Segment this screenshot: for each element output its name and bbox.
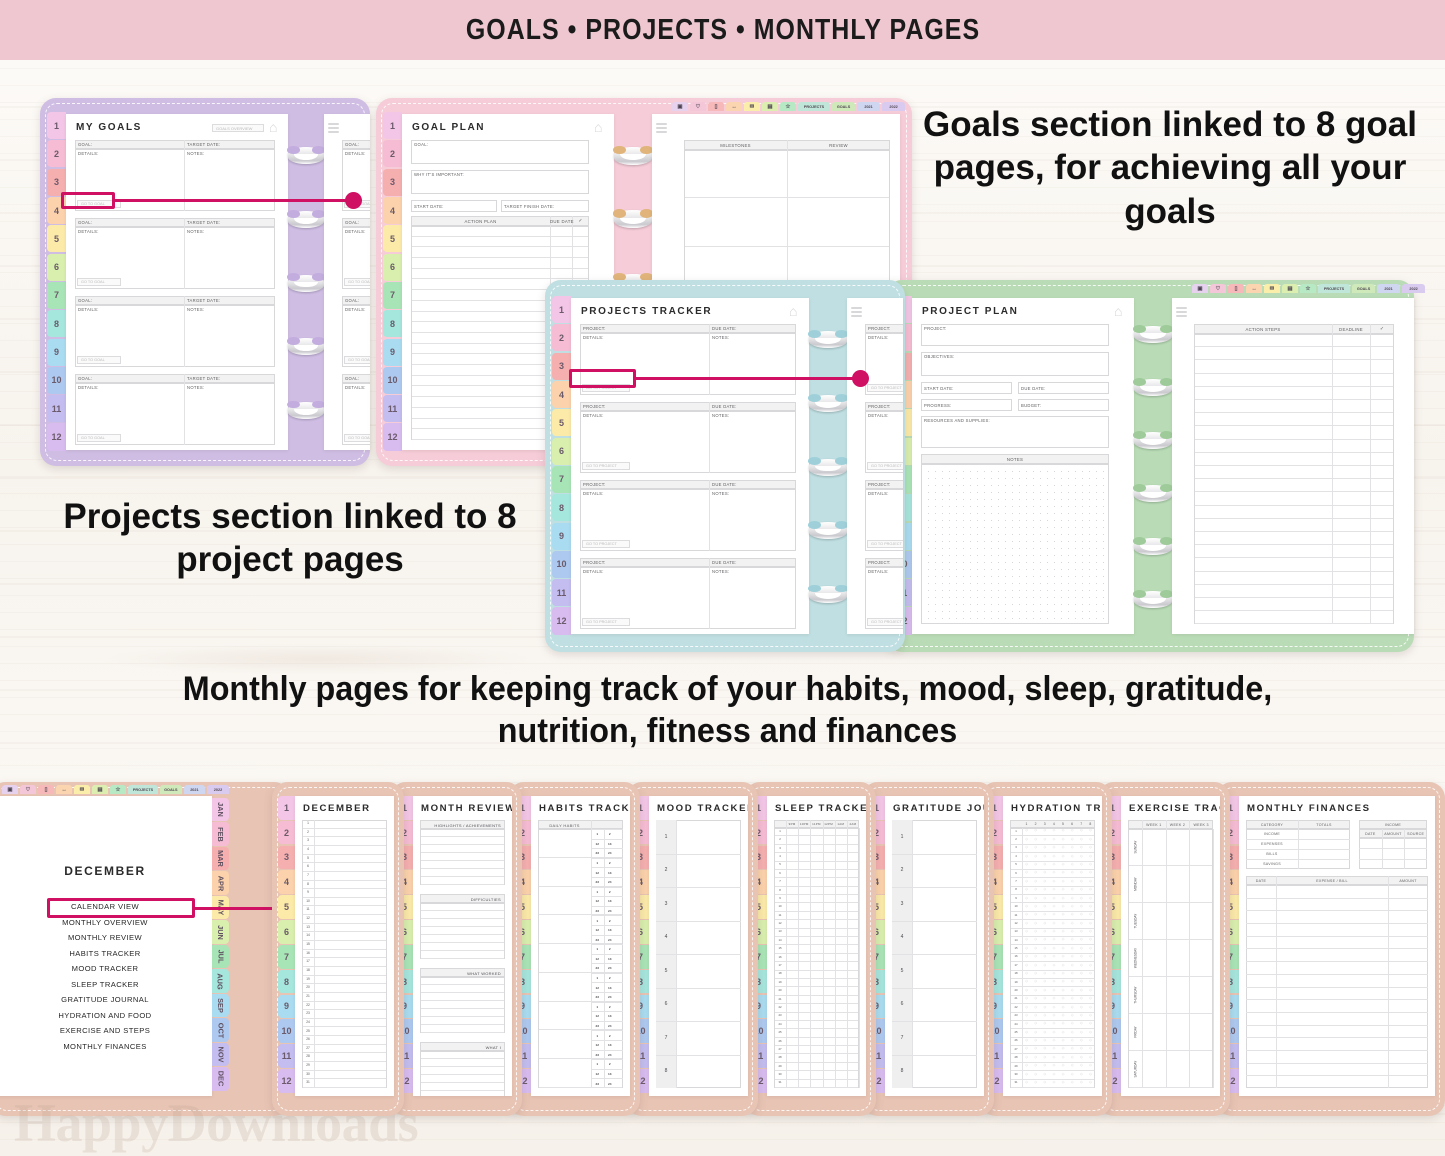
go-to-goal-button[interactable]: GO TO GOAL [77,434,121,442]
water-glass-icon[interactable]: ◇ [1031,862,1040,866]
highlight-go-to-goal[interactable] [61,192,115,209]
water-glass-icon[interactable]: ◇ [1022,971,1031,975]
sleep-day-row[interactable] [775,895,858,903]
water-glass-icon[interactable]: ◇ [1040,1080,1049,1084]
overview-day-row[interactable] [303,889,386,898]
water-glass-icon[interactable]: ◇ [1049,912,1058,916]
water-glass-icon[interactable]: ◇ [1077,921,1086,925]
go-to-goal-button[interactable]: GO TO GOAL [77,278,121,286]
index-item-exercise-and-steps[interactable]: EXERCISE AND STEPS [0,1026,212,1035]
water-glass-icon[interactable]: ◇ [1040,879,1049,883]
water-glass-icon[interactable]: ◇ [1086,828,1095,832]
top-tab-projects[interactable]: PROJECTS [798,102,830,111]
number-tab-7[interactable]: 7 [552,466,571,493]
water-glass-icon[interactable]: ◇ [1049,1063,1058,1067]
water-glass-icon[interactable]: ◇ [1086,971,1095,975]
water-glass-icon[interactable]: ◇ [1086,879,1095,883]
overview-day-row[interactable] [303,1036,386,1045]
water-glass-icon[interactable]: ◇ [1077,904,1086,908]
number-tab-7[interactable]: 7 [383,282,402,309]
water-glass-icon[interactable]: ◇ [1022,1046,1031,1050]
water-glass-icon[interactable]: ◇ [1022,946,1031,950]
expense-row[interactable] [1246,1063,1428,1064]
water-glass-icon[interactable]: ◇ [1031,996,1040,1000]
heart-icon[interactable]: ♡ [690,102,706,111]
water-glass-icon[interactable]: ◇ [1086,979,1095,983]
index-item-sleep-tracker[interactable]: SLEEP TRACKER [0,980,212,989]
water-glass-icon[interactable]: ◇ [1031,921,1040,925]
water-glass-icon[interactable]: ◇ [1031,946,1040,950]
month-tab-AUG[interactable]: AUG [212,969,229,992]
sleep-day-row[interactable] [775,836,858,844]
water-glass-icon[interactable]: ◇ [1022,1063,1031,1067]
water-glass-icon[interactable]: ◇ [1049,887,1058,891]
water-glass-icon[interactable]: ◇ [1068,904,1077,908]
water-glass-icon[interactable]: ◇ [1040,870,1049,874]
overview-day-row[interactable] [303,837,386,846]
expense-row[interactable] [1246,1075,1428,1076]
water-glass-icon[interactable]: ◇ [1068,828,1077,832]
water-glass-icon[interactable]: ◇ [1077,937,1086,941]
water-glass-icon[interactable]: ◇ [1059,1038,1068,1042]
water-glass-icon[interactable]: ◇ [1040,963,1049,967]
water-glass-icon[interactable]: ◇ [1059,1030,1068,1034]
water-glass-icon[interactable]: ◇ [1031,887,1040,891]
income-row[interactable] [1359,859,1427,860]
water-glass-icon[interactable]: ◇ [1077,870,1086,874]
sleep-day-row[interactable] [775,845,858,853]
number-tab-2[interactable]: 2 [383,140,402,167]
water-glass-icon[interactable]: ◇ [1031,879,1040,883]
checkbox-icon[interactable]: ▣ [672,102,688,111]
water-glass-icon[interactable]: ◇ [1077,862,1086,866]
water-glass-icon[interactable]: ◇ [1022,921,1031,925]
water-glass-icon[interactable]: ◇ [1077,896,1086,900]
water-glass-icon[interactable]: ◇ [1040,1055,1049,1059]
water-glass-icon[interactable]: ◇ [1077,1072,1086,1076]
number-tab-8[interactable]: 8 [278,970,295,994]
summary-row[interactable] [1246,849,1350,850]
index-item-gratitude-journal[interactable]: GRATITUDE JOURNAL [0,995,212,1004]
water-glass-icon[interactable]: ◇ [1049,870,1058,874]
water-glass-icon[interactable]: ◇ [1040,988,1049,992]
water-glass-icon[interactable]: ◇ [1022,912,1031,916]
water-glass-icon[interactable]: ◇ [1059,963,1068,967]
water-glass-icon[interactable]: ◇ [1077,1005,1086,1009]
sleep-day-row[interactable] [775,962,858,970]
water-glass-icon[interactable]: ◇ [1049,946,1058,950]
expense-row[interactable] [1246,961,1428,962]
water-glass-icon[interactable]: ◇ [1059,921,1068,925]
sleep-day-row[interactable] [775,1004,858,1012]
go-to-project-button[interactable]: GO TO PROJECT [582,462,630,470]
water-glass-icon[interactable]: ◇ [1040,837,1049,841]
sleep-day-row[interactable] [775,1038,858,1046]
water-glass-icon[interactable]: ◇ [1031,988,1040,992]
mood-row[interactable] [656,854,741,855]
star-icon[interactable]: ☆ [1300,284,1316,293]
water-glass-icon[interactable]: ◇ [1086,862,1095,866]
water-glass-icon[interactable]: ◇ [1040,1021,1049,1025]
water-glass-icon[interactable]: ◇ [1040,971,1049,975]
water-glass-icon[interactable]: ◇ [1022,862,1031,866]
month-tab-MAR[interactable]: MAR [212,847,229,870]
water-glass-icon[interactable]: ◇ [1068,1063,1077,1067]
water-glass-icon[interactable]: ◇ [1040,845,1049,849]
water-glass-icon[interactable]: ◇ [1077,1080,1086,1084]
water-glass-icon[interactable]: ◇ [1031,1005,1040,1009]
water-glass-icon[interactable]: ◇ [1068,887,1077,891]
water-glass-icon[interactable]: ◇ [1022,1005,1031,1009]
water-glass-icon[interactable]: ◇ [1049,971,1058,975]
water-glass-icon[interactable]: ◇ [1086,921,1095,925]
number-tab-9[interactable]: 9 [278,995,295,1019]
mood-row[interactable] [656,921,741,922]
number-tab-11[interactable]: 11 [278,1044,295,1068]
water-glass-icon[interactable]: ◇ [1086,954,1095,958]
water-glass-icon[interactable]: ◇ [1086,946,1095,950]
number-tab-8[interactable]: 8 [47,310,66,337]
water-glass-icon[interactable]: ◇ [1022,1013,1031,1017]
sleep-day-row[interactable] [775,878,858,886]
pill-icon[interactable]: ▯ [38,785,54,794]
number-tab-3[interactable]: 3 [383,169,402,196]
hamburger-icon[interactable] [851,307,862,317]
water-glass-icon[interactable]: ◇ [1068,870,1077,874]
highlight-monthly-overview[interactable] [47,898,195,918]
water-glass-icon[interactable]: ◇ [1077,963,1086,967]
expense-row[interactable] [1246,898,1428,899]
arrows-icon[interactable]: ↔ [726,102,742,111]
mood-row[interactable] [656,887,741,888]
overview-day-row[interactable] [303,820,386,829]
water-glass-icon[interactable]: ◇ [1040,1013,1049,1017]
pill-icon[interactable]: ▯ [708,102,724,111]
summary-row[interactable] [1246,859,1350,860]
water-glass-icon[interactable]: ◇ [1031,937,1040,941]
star-icon[interactable]: ☆ [110,785,126,794]
water-glass-icon[interactable]: ◇ [1086,1046,1095,1050]
expense-row[interactable] [1246,1012,1428,1013]
mood-row[interactable] [656,1055,741,1056]
number-tab-9[interactable]: 9 [552,523,571,550]
month-tab-JUN[interactable]: JUN [212,920,229,943]
water-glass-icon[interactable]: ◇ [1068,979,1077,983]
water-glass-icon[interactable]: ◇ [1059,1080,1068,1084]
water-glass-icon[interactable]: ◇ [1040,912,1049,916]
water-glass-icon[interactable]: ◇ [1077,946,1086,950]
water-glass-icon[interactable]: ◇ [1068,854,1077,858]
top-tab-2021[interactable]: 2021 [857,102,880,111]
go-to-goal-button[interactable]: GO TO GOAL [344,356,370,364]
water-glass-icon[interactable]: ◇ [1040,1046,1049,1050]
water-glass-icon[interactable]: ◇ [1068,1013,1077,1017]
water-glass-icon[interactable]: ◇ [1049,896,1058,900]
month-tab-OCT[interactable]: OCT [212,1018,229,1041]
water-glass-icon[interactable]: ◇ [1040,862,1049,866]
number-tab-9[interactable]: 9 [47,339,66,366]
go-to-goal-button[interactable]: GO TO GOAL [344,278,370,286]
water-glass-icon[interactable]: ◇ [1077,1063,1086,1067]
overview-day-row[interactable] [303,984,386,993]
water-glass-icon[interactable]: ◇ [1068,879,1077,883]
number-tab-1[interactable]: 1 [552,296,571,323]
water-glass-icon[interactable]: ◇ [1068,929,1077,933]
water-glass-icon[interactable]: ◇ [1068,845,1077,849]
water-glass-icon[interactable]: ◇ [1086,912,1095,916]
expense-row[interactable] [1246,948,1428,949]
arrows-icon[interactable]: ↔ [1246,284,1262,293]
expense-row[interactable] [1246,936,1428,937]
index-item-mood-tracker[interactable]: MOOD TRACKER [0,964,212,973]
sleep-day-row[interactable] [775,828,858,836]
sleep-day-row[interactable] [775,1080,858,1088]
star-icon[interactable]: ☆ [780,102,796,111]
goal-field[interactable] [411,140,589,164]
water-glass-icon[interactable]: ◇ [1059,1055,1068,1059]
number-tab-1[interactable]: 1 [278,796,295,820]
water-glass-icon[interactable]: ◇ [1049,988,1058,992]
water-glass-icon[interactable]: ◇ [1068,946,1077,950]
mood-row[interactable] [656,988,741,989]
water-glass-icon[interactable]: ◇ [1086,1005,1095,1009]
overview-day-row[interactable] [303,1053,386,1062]
number-tab-8[interactable]: 8 [552,494,571,521]
sleep-day-row[interactable] [775,1071,858,1079]
index-item-monthly-review[interactable]: MONTHLY REVIEW [0,933,212,942]
water-glass-icon[interactable]: ◇ [1031,904,1040,908]
water-glass-icon[interactable]: ◇ [1040,937,1049,941]
top-tab-goals[interactable]: GOALS [1352,284,1375,293]
water-glass-icon[interactable]: ◇ [1040,1030,1049,1034]
water-glass-icon[interactable]: ◇ [1077,1038,1086,1042]
overview-day-row[interactable] [303,1002,386,1011]
note-icon[interactable]: ▤ [1282,284,1298,293]
go-to-project-button[interactable]: GO TO PROJECT [867,462,903,470]
water-glass-icon[interactable]: ◇ [1059,954,1068,958]
water-glass-icon[interactable]: ◇ [1031,1021,1040,1025]
sleep-day-row[interactable] [775,920,858,928]
gratitude-row[interactable] [892,1021,977,1022]
overview-day-row[interactable] [303,1071,386,1080]
goals-overview-button[interactable]: GOALS OVERVIEW [212,124,264,132]
water-glass-icon[interactable]: ◇ [1040,1005,1049,1009]
number-tab-2[interactable]: 2 [47,140,66,167]
water-glass-icon[interactable]: ◇ [1068,971,1077,975]
water-glass-icon[interactable]: ◇ [1022,1038,1031,1042]
overview-day-row[interactable] [303,1010,386,1019]
water-glass-icon[interactable]: ◇ [1068,963,1077,967]
water-glass-icon[interactable]: ◇ [1040,921,1049,925]
overview-day-row[interactable] [303,1045,386,1054]
water-glass-icon[interactable]: ◇ [1059,896,1068,900]
index-item-monthly-overview[interactable]: MONTHLY OVERVIEW [0,918,212,927]
water-glass-icon[interactable]: ◇ [1059,912,1068,916]
water-glass-icon[interactable]: ◇ [1077,996,1086,1000]
water-glass-icon[interactable]: ◇ [1040,887,1049,891]
water-glass-icon[interactable]: ◇ [1068,996,1077,1000]
water-glass-icon[interactable]: ◇ [1059,828,1068,832]
water-glass-icon[interactable]: ◇ [1040,896,1049,900]
number-tab-2[interactable]: 2 [278,821,295,845]
water-glass-icon[interactable]: ◇ [1049,1038,1058,1042]
water-glass-icon[interactable]: ◇ [1059,837,1068,841]
overview-day-row[interactable] [303,993,386,1002]
home-icon[interactable]: ⌂ [1114,304,1122,318]
sleep-day-row[interactable] [775,1021,858,1029]
water-glass-icon[interactable]: ◇ [1077,887,1086,891]
water-glass-icon[interactable]: ◇ [1022,988,1031,992]
number-tab-8[interactable]: 8 [383,310,402,337]
number-tab-1[interactable]: 1 [383,112,402,139]
water-glass-icon[interactable]: ◇ [1040,904,1049,908]
overview-day-row[interactable] [303,924,386,933]
month-tab-APR[interactable]: APR [212,871,229,894]
water-glass-icon[interactable]: ◇ [1049,837,1058,841]
gratitude-row[interactable] [892,954,977,955]
number-tab-6[interactable]: 6 [278,920,295,944]
water-glass-icon[interactable]: ◇ [1059,887,1068,891]
water-glass-icon[interactable]: ◇ [1086,1063,1095,1067]
index-item-monthly-finances[interactable]: MONTHLY FINANCES [0,1042,212,1051]
water-glass-icon[interactable]: ◇ [1049,1055,1058,1059]
water-glass-icon[interactable]: ◇ [1086,870,1095,874]
water-glass-icon[interactable]: ◇ [1068,988,1077,992]
water-glass-icon[interactable]: ◇ [1059,929,1068,933]
number-tab-6[interactable]: 6 [552,438,571,465]
month-tab-JAN[interactable]: JAN [212,798,229,821]
water-glass-icon[interactable]: ◇ [1059,1063,1068,1067]
water-glass-icon[interactable]: ◇ [1077,828,1086,832]
heart-icon[interactable]: ♡ [20,785,36,794]
water-glass-icon[interactable]: ◇ [1077,1013,1086,1017]
project-field[interactable] [921,324,1109,346]
number-tab-10[interactable]: 10 [552,551,571,578]
water-glass-icon[interactable]: ◇ [1049,996,1058,1000]
water-glass-icon[interactable]: ◇ [1040,1063,1049,1067]
top-tab-2022[interactable]: 2022 [1402,284,1425,293]
water-glass-icon[interactable]: ◇ [1049,921,1058,925]
index-item-habits-tracker[interactable]: HABITS TRACKER [0,949,212,958]
water-glass-icon[interactable]: ◇ [1040,828,1049,832]
index-item-hydration-and-food[interactable]: HYDRATION AND FOOD [0,1011,212,1020]
water-glass-icon[interactable]: ◇ [1049,1046,1058,1050]
water-glass-icon[interactable]: ◇ [1049,1030,1058,1034]
water-glass-icon[interactable]: ◇ [1049,845,1058,849]
water-glass-icon[interactable]: ◇ [1086,1030,1095,1034]
home-icon[interactable]: ⌂ [269,120,277,134]
checkbox-icon[interactable]: ▣ [2,785,18,794]
water-glass-icon[interactable]: ◇ [1040,854,1049,858]
month-tab-FEB[interactable]: FEB [212,822,229,845]
water-glass-icon[interactable]: ◇ [1068,896,1077,900]
water-glass-icon[interactable]: ◇ [1031,1030,1040,1034]
water-glass-icon[interactable]: ◇ [1022,837,1031,841]
number-tab-10[interactable]: 10 [47,367,66,394]
number-tab-3[interactable]: 3 [278,846,295,870]
overview-day-row[interactable] [303,1019,386,1028]
water-glass-icon[interactable]: ◇ [1049,1080,1058,1084]
water-glass-icon[interactable]: ◇ [1049,1021,1058,1025]
water-glass-icon[interactable]: ◇ [1068,1030,1077,1034]
water-glass-icon[interactable]: ◇ [1022,954,1031,958]
overview-day-row[interactable] [303,829,386,838]
water-glass-icon[interactable]: ◇ [1031,912,1040,916]
water-glass-icon[interactable]: ◇ [1086,996,1095,1000]
number-tab-12[interactable]: 12 [47,423,66,450]
expense-row[interactable] [1246,999,1428,1000]
water-glass-icon[interactable]: ◇ [1068,1072,1077,1076]
water-glass-icon[interactable]: ◇ [1077,837,1086,841]
water-glass-icon[interactable]: ◇ [1086,845,1095,849]
hamburger-icon[interactable] [1176,307,1187,317]
water-glass-icon[interactable]: ◇ [1022,887,1031,891]
overview-day-row[interactable] [303,906,386,915]
month-tab-SEP[interactable]: SEP [212,994,229,1017]
water-glass-icon[interactable]: ◇ [1049,879,1058,883]
water-glass-icon[interactable]: ◇ [1022,1072,1031,1076]
arrows-icon[interactable]: ↔ [56,785,72,794]
water-glass-icon[interactable]: ◇ [1049,1005,1058,1009]
water-glass-icon[interactable]: ◇ [1077,988,1086,992]
number-tab-11[interactable]: 11 [552,579,571,606]
number-tab-5[interactable]: 5 [383,225,402,252]
number-tab-9[interactable]: 9 [383,339,402,366]
water-glass-icon[interactable]: ◇ [1040,1038,1049,1042]
water-glass-icon[interactable]: ◇ [1059,1013,1068,1017]
water-glass-icon[interactable]: ◇ [1068,921,1077,925]
water-glass-icon[interactable]: ◇ [1022,963,1031,967]
expense-row[interactable] [1246,974,1428,975]
water-glass-icon[interactable]: ◇ [1031,828,1040,832]
mail-icon[interactable]: ✉ [74,785,90,794]
top-tab-projects[interactable]: PROJECTS [1318,284,1350,293]
gratitude-row[interactable] [892,887,977,888]
water-glass-icon[interactable]: ◇ [1031,896,1040,900]
water-glass-icon[interactable]: ◇ [1077,845,1086,849]
top-tab-2021[interactable]: 2021 [184,785,206,794]
sleep-day-row[interactable] [775,1063,858,1071]
water-glass-icon[interactable]: ◇ [1031,845,1040,849]
hamburger-icon[interactable] [656,123,667,133]
water-glass-icon[interactable]: ◇ [1059,946,1068,950]
water-glass-icon[interactable]: ◇ [1077,979,1086,983]
go-to-project-button[interactable]: GO TO PROJECT [867,540,903,548]
checkbox-icon[interactable]: ▣ [1192,284,1208,293]
water-glass-icon[interactable]: ◇ [1086,1038,1095,1042]
water-glass-icon[interactable]: ◇ [1031,837,1040,841]
water-glass-icon[interactable]: ◇ [1068,937,1077,941]
number-tab-5[interactable]: 5 [278,895,295,919]
water-glass-icon[interactable]: ◇ [1086,837,1095,841]
top-tab-projects[interactable]: PROJECTS [128,785,158,794]
water-glass-icon[interactable]: ◇ [1049,963,1058,967]
water-glass-icon[interactable]: ◇ [1022,1080,1031,1084]
water-glass-icon[interactable]: ◇ [1086,904,1095,908]
water-glass-icon[interactable]: ◇ [1040,1072,1049,1076]
water-glass-icon[interactable]: ◇ [1086,929,1095,933]
overview-day-row[interactable] [303,1027,386,1036]
overview-day-row[interactable] [303,855,386,864]
water-glass-icon[interactable]: ◇ [1068,912,1077,916]
number-tab-5[interactable]: 5 [47,225,66,252]
water-glass-icon[interactable]: ◇ [1068,837,1077,841]
mood-row[interactable] [656,954,741,955]
gratitude-row[interactable] [892,921,977,922]
water-glass-icon[interactable]: ◇ [1022,904,1031,908]
water-glass-icon[interactable]: ◇ [1059,870,1068,874]
water-glass-icon[interactable]: ◇ [1049,937,1058,941]
